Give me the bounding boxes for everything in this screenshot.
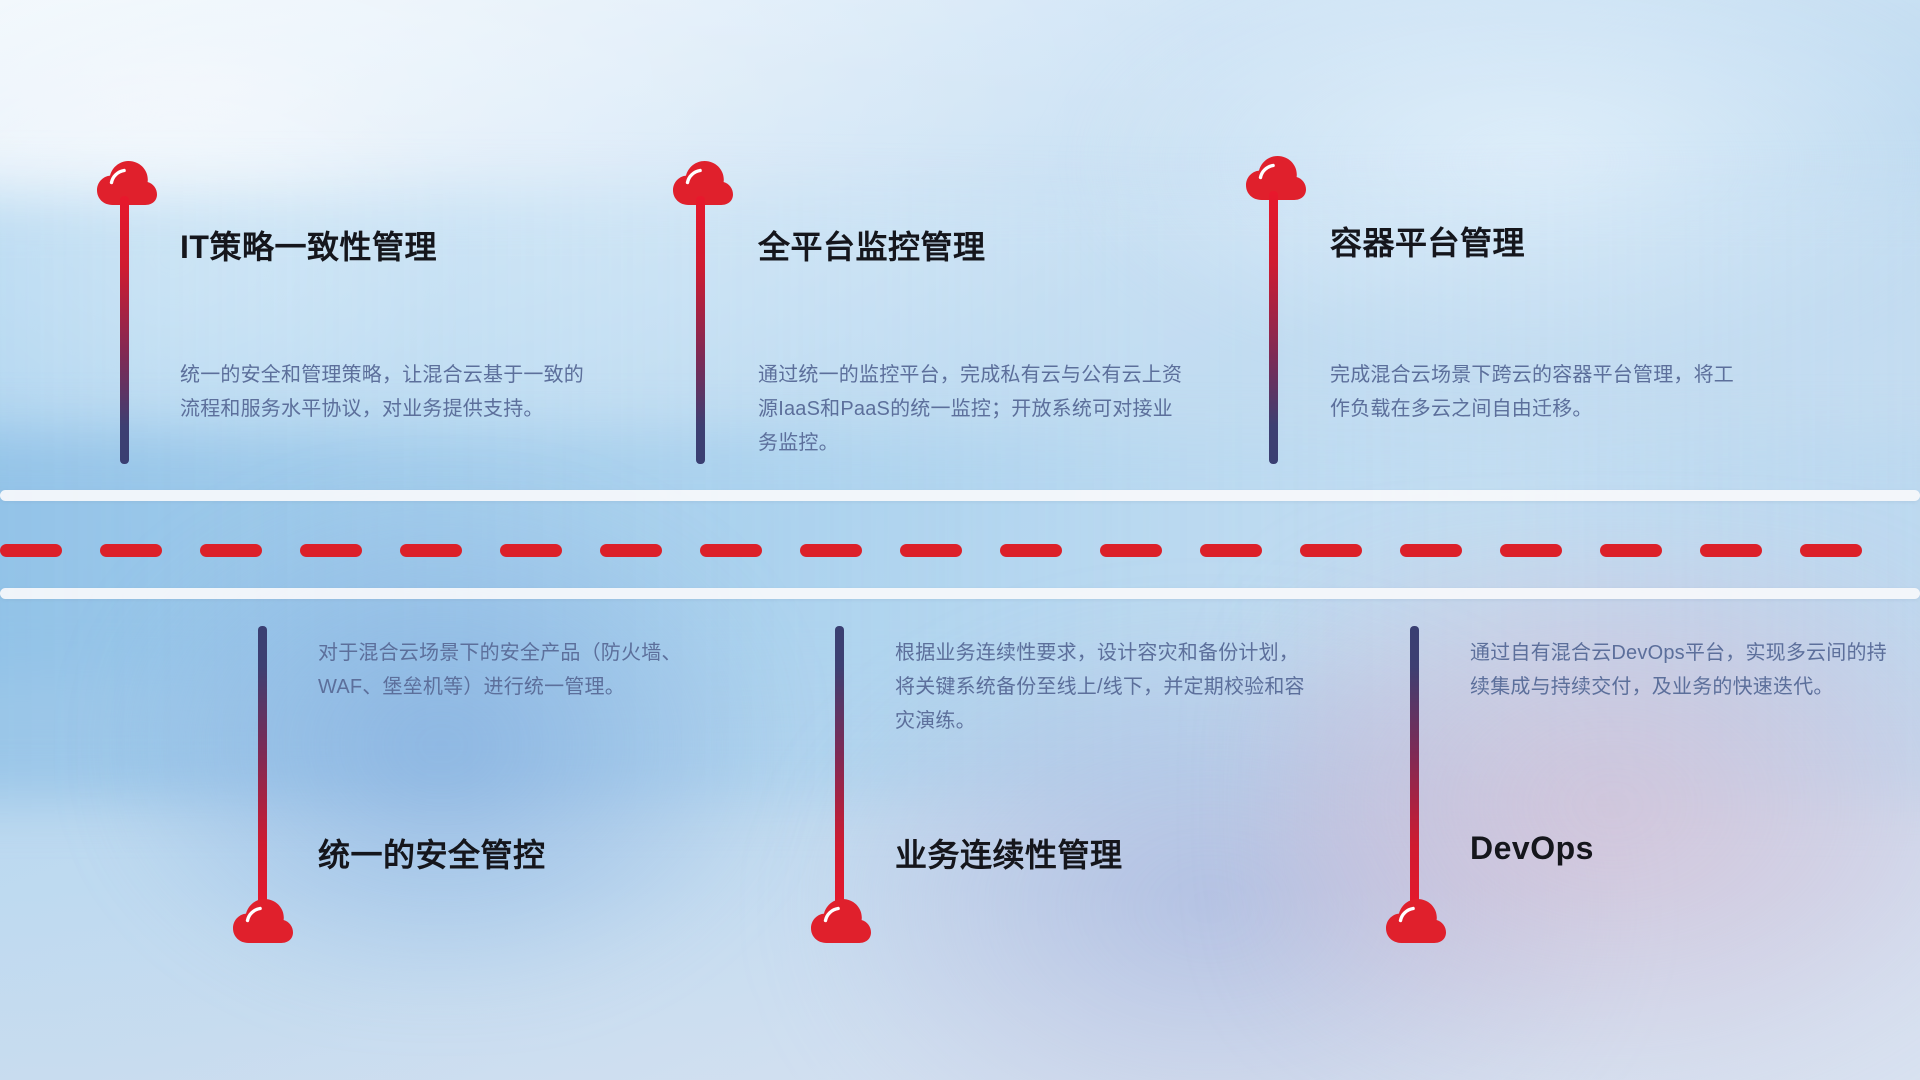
- timeline-stem: [835, 626, 844, 916]
- feature-body: 对于混合云场景下的安全产品（防火墙、WAF、堡垒机等）进行统一管理。: [318, 636, 738, 704]
- timeline-stem: [120, 196, 129, 464]
- feature-title: 容器平台管理: [1330, 218, 1525, 264]
- feature-body: 完成混合云场景下跨云的容器平台管理，将工作负载在多云之间自由迁移。: [1330, 358, 1750, 426]
- timeline-stem: [1269, 191, 1278, 464]
- timeline-stem: [258, 626, 267, 916]
- feature-title: 统一的安全管控: [318, 830, 546, 876]
- cloud-icon: [810, 898, 872, 944]
- feature-body: 通过自有混合云DevOps平台，实现多云间的持续集成与持续交付，及业务的快速迭代…: [1470, 636, 1890, 704]
- feature-body: 根据业务连续性要求，设计容灾和备份计划，将关键系统备份至线上/线下，并定期校验和…: [895, 636, 1315, 738]
- cloud-icon: [1385, 898, 1447, 944]
- timeline-stem: [1410, 626, 1419, 916]
- feature-title: 全平台监控管理: [758, 222, 986, 268]
- feature-title: 业务连续性管理: [895, 830, 1123, 876]
- timeline-stem: [696, 196, 705, 464]
- feature-title: DevOps: [1470, 830, 1594, 867]
- feature-body: 通过统一的监控平台，完成私有云与公有云上资源IaaS和PaaS的统一监控；开放系…: [758, 358, 1188, 460]
- feature-title: IT策略一致性管理: [180, 222, 437, 268]
- feature-body: 统一的安全和管理策略，让混合云基于一致的流程和服务水平协议，对业务提供支持。: [180, 358, 600, 426]
- cloud-icon: [232, 898, 294, 944]
